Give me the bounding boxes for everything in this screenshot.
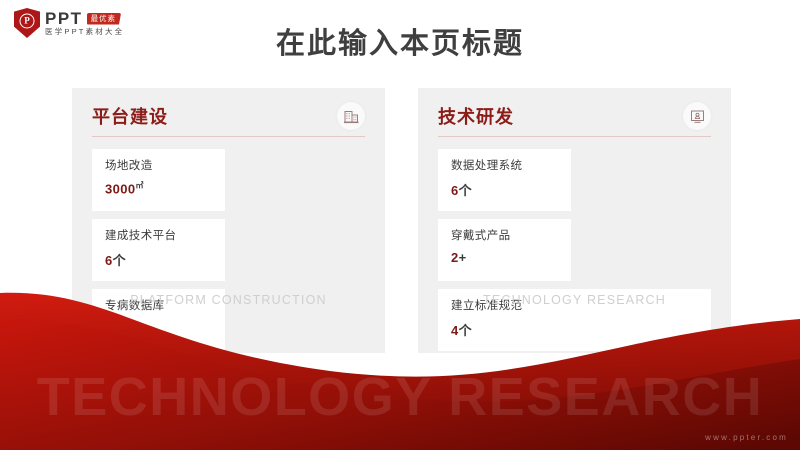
panel-divider	[438, 136, 711, 137]
stat-value: 3000㎡	[105, 180, 225, 196]
stat-label: 建成技术平台	[105, 230, 225, 243]
stat-value: 6个	[451, 180, 571, 199]
page-title: 在此输入本页标题	[0, 20, 800, 62]
stat-label: 数据处理系统	[451, 160, 571, 173]
id-card-icon	[683, 102, 711, 130]
site-url[interactable]: www.ppter.com	[705, 433, 788, 442]
stat-value: 2+	[451, 250, 571, 265]
stat-label: 场地改造	[105, 160, 225, 173]
stat-card[interactable]: 穿戴式产品 2+	[438, 219, 571, 281]
stat-card[interactable]: 场地改造 3000㎡	[92, 149, 225, 211]
panel-title: 技术研发	[438, 103, 514, 129]
panel-divider	[92, 136, 365, 137]
panel-header: 技术研发	[438, 88, 711, 136]
panel-title: 平台建设	[92, 103, 168, 129]
stat-card[interactable]: 数据处理系统 6个	[438, 149, 571, 211]
panel-header: 平台建设	[92, 88, 365, 136]
stat-value: 6个	[105, 250, 225, 269]
red-wave-decoration	[0, 275, 800, 450]
stat-card[interactable]: 建成技术平台 6个	[92, 219, 225, 281]
stat-label: 穿戴式产品	[451, 230, 571, 243]
building-icon	[337, 102, 365, 130]
